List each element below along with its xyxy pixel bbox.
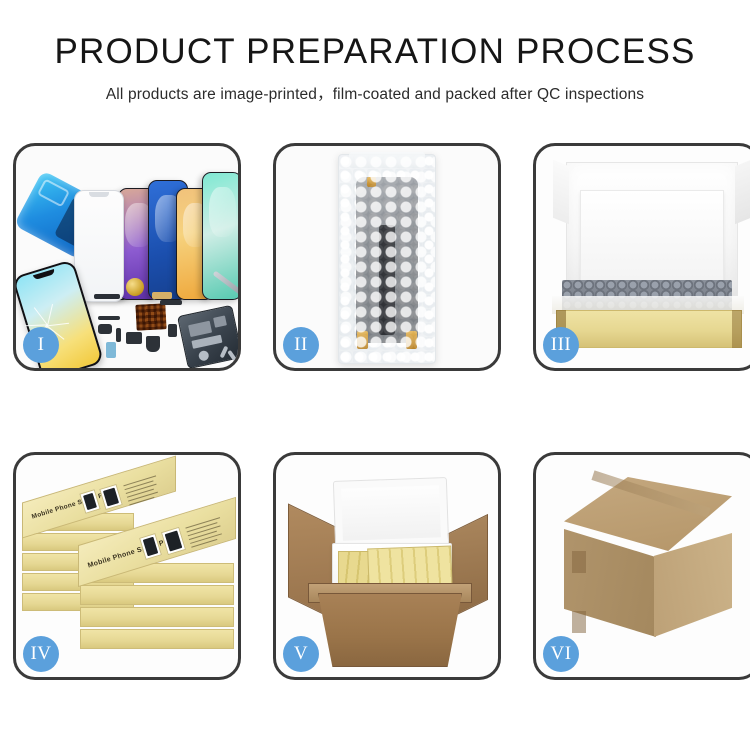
step-badge-4: IV [23,636,59,672]
step-badge-1: I [23,327,59,363]
screw-icon [116,328,121,342]
earpiece-icon [146,336,160,352]
yellow-box-base-icon [556,310,742,348]
product-preparation-infographic: PRODUCT PREPARATION PROCESS All products… [0,0,750,750]
tape-tab-icon [572,611,586,633]
bubble-wrap-bag-icon [338,154,436,364]
step-panel-3[interactable]: III [533,143,750,371]
step-badge-5: V [283,636,319,672]
foam-box-lid-icon [333,477,449,549]
motherboard-icon [177,305,238,368]
gold-flex-icon [152,292,172,299]
header: PRODUCT PREPARATION PROCESS All products… [0,0,750,104]
page-subtitle: All products are image-printed，film-coat… [0,82,750,104]
stacked-box [80,585,234,605]
spare-parts-cluster [94,276,238,368]
white-foam-sheet-icon [580,190,724,282]
stacked-box [80,629,234,649]
gold-contact-icon [357,331,368,349]
step-panel-1[interactable]: I [13,143,241,371]
box-stack: Mobile Phone Spare Parts Mobile Phone Sp… [20,471,238,669]
step-panel-2[interactable]: II [273,143,501,371]
screen-flex-cable-icon [379,225,395,335]
step-badge-2: II [283,327,319,363]
step-panel-5[interactable]: V [273,452,501,680]
steps-grid: I II [13,143,741,680]
carton-body-icon [318,593,462,667]
battery-connector-icon [106,342,116,358]
connector-strip-icon [94,294,120,299]
step-panel-6[interactable]: VI [533,452,750,680]
page-title: PRODUCT PREPARATION PROCESS [0,34,750,69]
bag-seal-icon [349,152,425,168]
vibration-motor-icon [126,332,142,344]
ic-chip-array-icon [135,303,166,331]
gold-contact-icon [406,331,417,349]
speaker-module-icon [126,278,144,296]
gold-contact-icon [367,177,376,187]
camera-module-icon [98,324,112,334]
sim-tray-icon [168,324,177,337]
step-badge-6: VI [543,636,579,672]
flex-cable-icon [98,316,120,320]
step-badge-3: III [543,327,579,363]
step-panel-4[interactable]: Mobile Phone Spare Parts Mobile Phone Sp… [13,452,241,680]
stacked-box [80,607,234,627]
ribbon-cable-icon [160,300,182,305]
tape-tab-icon [572,551,586,573]
